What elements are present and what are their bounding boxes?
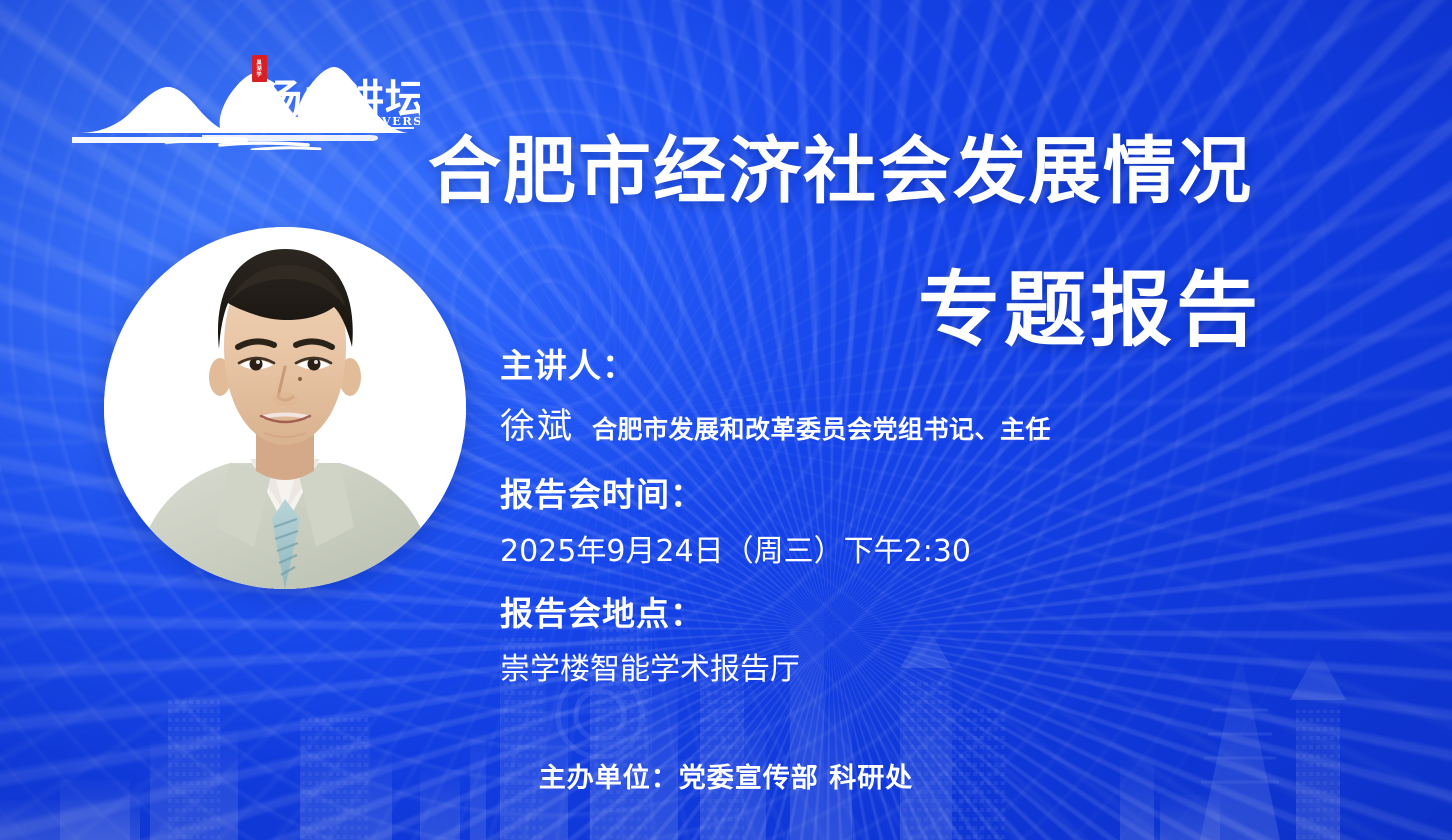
speaker-row: 徐斌 合肥市发展和改革委员会党组书记、主任	[500, 398, 1380, 449]
poster-root: 汤山讲坛 CHAOHU UNIVERSITY 巢 湖 学 合肥市经济社会发展情况…	[0, 0, 1452, 840]
speaker-portrait-avatar	[104, 227, 466, 589]
red-seal-icon: 巢 湖 学	[252, 55, 267, 82]
venue-label: 报告会地点：	[500, 596, 1380, 632]
venue-value: 崇学楼智能学术报告厅	[500, 644, 1380, 688]
organizers-footer: 主办单位：党委宣传部 科研处	[0, 756, 1452, 795]
logo-english-label: CHAOHU UNIVERSITY	[278, 114, 420, 128]
poster-title-line2: 专题报告	[918, 243, 1262, 362]
event-info-block: 主讲人： 徐斌 合肥市发展和改革委员会党组书记、主任 报告会时间： 2025年9…	[500, 348, 1380, 688]
speaker-portrait-illustration	[104, 227, 466, 589]
poster-title-line1: 合肥市经济社会发展情况	[428, 112, 1253, 218]
seal-char-2: 湖	[257, 66, 262, 71]
chaohu-university-logo: 汤山讲坛 CHAOHU UNIVERSITY 巢 湖 学	[70, 55, 420, 150]
mountain-wave-logo-icon: 汤山讲坛 CHAOHU UNIVERSITY	[70, 55, 420, 150]
time-value: 2025年9月24日（周三）下午2:30	[500, 526, 1380, 570]
speaker-label: 主讲人：	[500, 348, 1380, 384]
seal-char-3: 学	[257, 72, 262, 77]
speaker-name: 徐斌	[500, 398, 574, 449]
speaker-title: 合肥市发展和改革委员会党组书记、主任	[592, 410, 1051, 446]
seal-char-1: 巢	[257, 60, 262, 65]
time-label: 报告会时间：	[500, 477, 1380, 513]
